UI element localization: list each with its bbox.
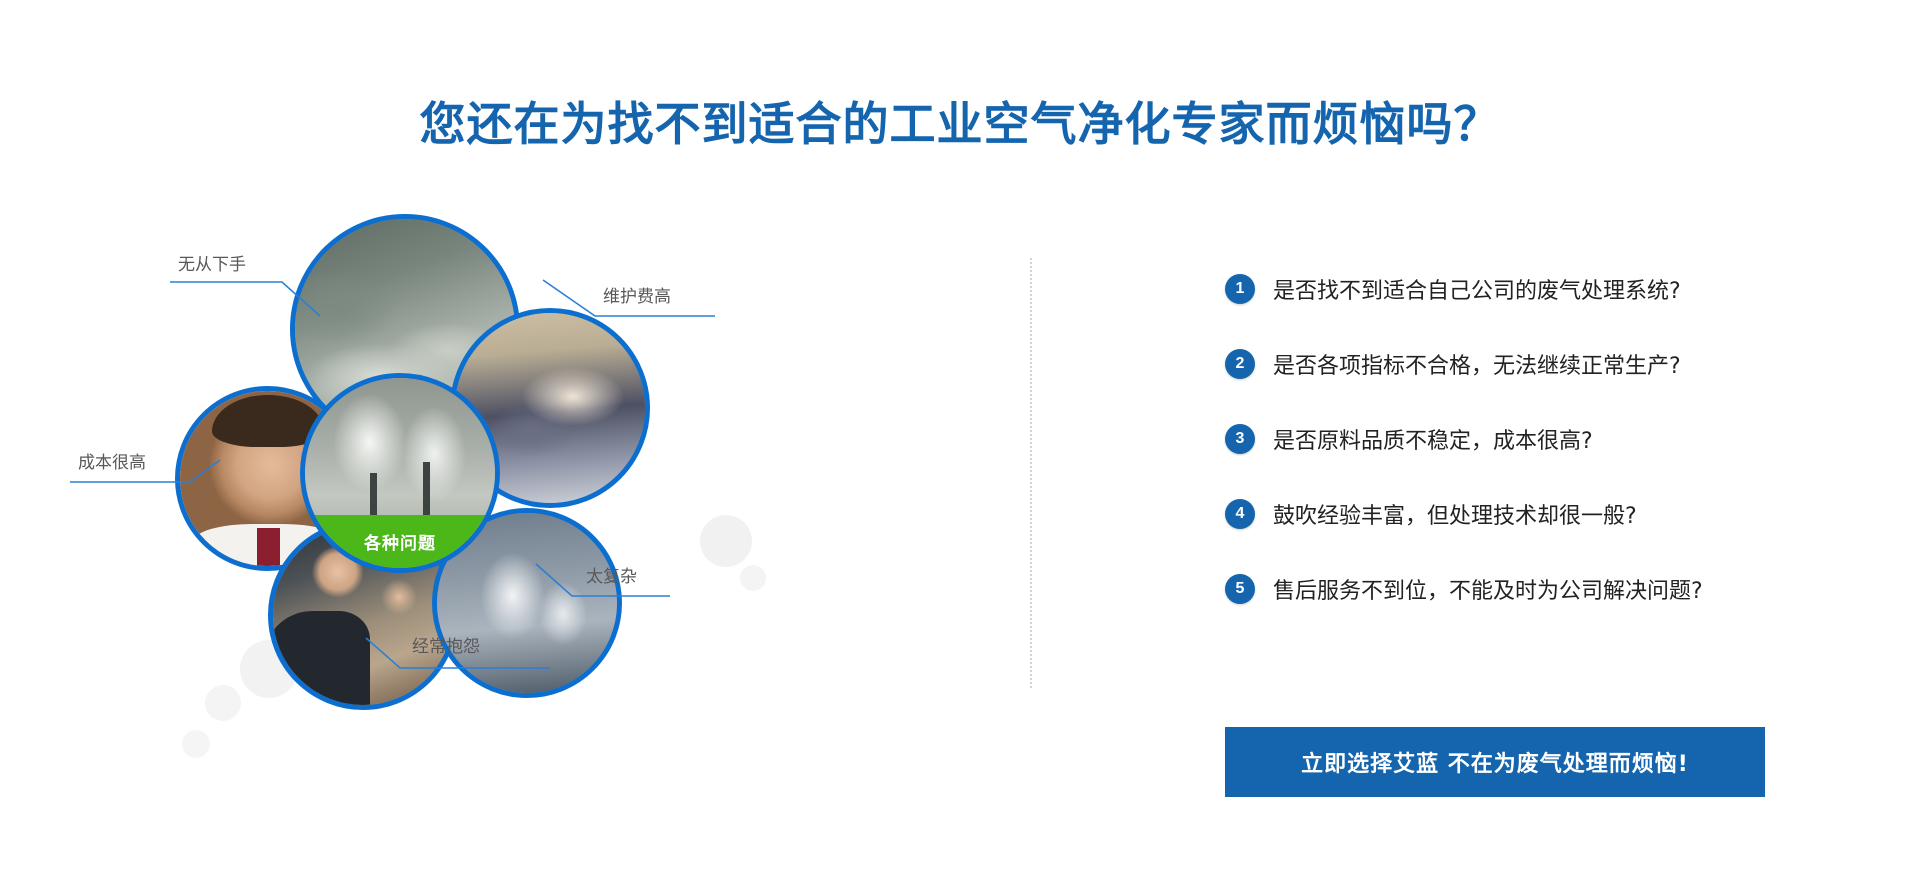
list-item: 1 是否找不到适合自己公司的废气处理系统? <box>1225 265 1865 313</box>
callout-weihufeigao: 维护费高 <box>595 282 775 342</box>
decorative-circle <box>700 515 752 567</box>
problem-diagram: 各种问题 无从下手 维护费高 成本很高 太复杂 <box>0 200 1020 875</box>
list-item: 2 是否各项指标不合格，无法继续正常生产? <box>1225 340 1865 388</box>
list-item-label: 是否找不到适合自己公司的废气处理系统? <box>1273 273 1681 305</box>
decorative-circle <box>182 730 210 758</box>
suit-shape <box>268 611 370 705</box>
list-item-number: 3 <box>1225 424 1255 454</box>
page-root: 您还在为找不到适合的工业空气净化专家而烦恼吗？ <box>0 0 1920 875</box>
callout-chengbenhengao: 成本很高 <box>70 448 260 498</box>
list-item-number: 2 <box>1225 349 1255 379</box>
questions-panel: 1 是否找不到适合自己公司的废气处理系统? 2 是否各项指标不合格，无法继续正常… <box>1225 265 1865 640</box>
callout-leader-line <box>70 448 260 498</box>
list-item-label: 鼓吹经验丰富，但处理技术却很一般? <box>1273 498 1637 530</box>
callout-leader-line <box>170 250 360 310</box>
list-item-number: 5 <box>1225 574 1255 604</box>
list-item-label: 是否各项指标不合格，无法继续正常生产? <box>1273 348 1681 380</box>
list-item-number: 1 <box>1225 274 1255 304</box>
list-item: 3 是否原料品质不稳定，成本很高? <box>1225 415 1865 463</box>
cta-button[interactable]: 立即选择艾蓝 不在为废气处理而烦恼! <box>1225 727 1765 797</box>
page-title: 您还在为找不到适合的工业空气净化专家而烦恼吗？ <box>0 88 1920 154</box>
callout-leader-line <box>400 632 630 682</box>
petal-image-center-smokestacks: 各种问题 <box>300 373 500 573</box>
list-item-label: 是否原料品质不稳定，成本很高? <box>1273 423 1593 455</box>
decorative-circle <box>205 685 241 721</box>
callout-taifuza: 太复杂 <box>572 562 732 612</box>
list-item-number: 4 <box>1225 499 1255 529</box>
callout-leader-line <box>572 562 732 612</box>
center-badge: 各种问题 <box>305 515 495 568</box>
callout-jingchangbaoyuan: 经常抱怨 <box>400 632 630 682</box>
decorative-circle <box>740 565 766 591</box>
callout-wucongxiashou: 无从下手 <box>170 250 360 310</box>
callout-leader-line <box>595 282 775 342</box>
list-item-label: 售后服务不到位，不能及时为公司解决问题? <box>1273 573 1703 605</box>
list-item: 5 售后服务不到位，不能及时为公司解决问题? <box>1225 565 1865 613</box>
vertical-dotted-divider <box>1030 258 1033 688</box>
list-item: 4 鼓吹经验丰富，但处理技术却很一般? <box>1225 490 1865 538</box>
